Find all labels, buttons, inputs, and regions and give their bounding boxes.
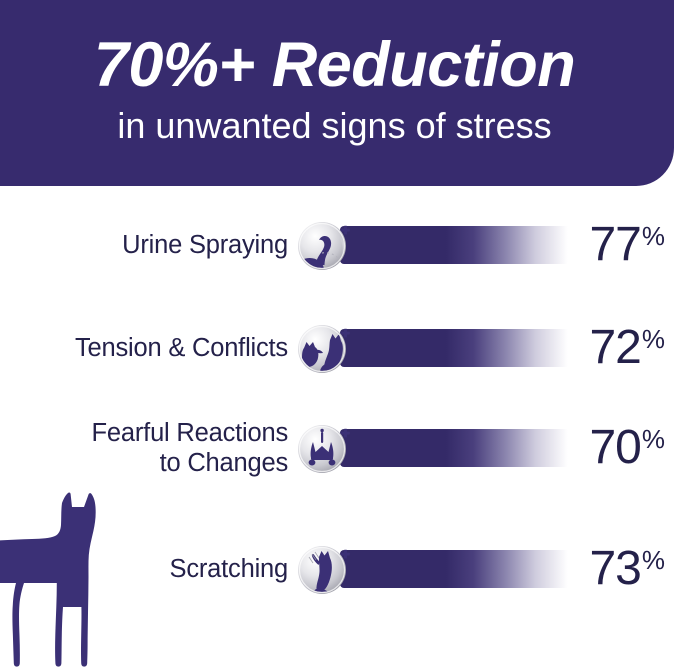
stat-label: Fearful Reactions to Changes [0, 416, 288, 480]
stat-row: Scratching [0, 537, 679, 601]
stat-row: Urine Spraying [0, 213, 679, 277]
stat-label-line: Urine Spraying [122, 230, 288, 260]
percent-sign: % [642, 326, 665, 352]
stat-value-number: 72 [589, 324, 640, 372]
stat-value-number: 77 [589, 221, 640, 269]
stat-value: 72 % [589, 316, 665, 380]
stat-value: 73 % [589, 537, 665, 601]
page-subtitle: in unwanted signs of stress [0, 104, 669, 148]
stat-row: Tension & Conflicts [0, 316, 679, 380]
progress-bar-track [340, 226, 570, 264]
percent-sign: % [642, 547, 665, 573]
cat-urine-spraying-badge-icon [296, 217, 352, 273]
stat-value: 70 % [589, 416, 665, 480]
percent-sign: % [642, 223, 665, 249]
stat-label-line: Fearful Reactions [92, 418, 288, 448]
stat-label-line: to Changes [92, 448, 288, 478]
stat-row: Fearful Reactions to Changes [0, 416, 679, 480]
stat-label-line: Scratching [170, 554, 288, 584]
stat-value-number: 73 [589, 545, 640, 593]
stats-list: Urine Spraying [0, 186, 679, 667]
header-banner: 70%+ Reduction in unwanted signs of stre… [0, 0, 674, 186]
stat-value: 77 % [589, 213, 665, 277]
stat-label: Tension & Conflicts [0, 316, 288, 380]
progress-bar-track [340, 550, 570, 588]
fearful-cat-badge-icon [296, 420, 352, 476]
stat-label: Urine Spraying [0, 213, 288, 277]
stat-value-number: 70 [589, 424, 640, 472]
stat-label: Scratching [0, 537, 288, 601]
percent-sign: % [642, 426, 665, 452]
progress-bar-track [340, 329, 570, 367]
stat-label-line: Tension & Conflicts [75, 333, 288, 363]
two-cats-tension-badge-icon [296, 320, 352, 376]
header-text-block: 70%+ Reduction in unwanted signs of stre… [0, 28, 669, 148]
cat-scratching-badge-icon [296, 541, 352, 597]
progress-bar-track [340, 429, 570, 467]
page-title: 70%+ Reduction [0, 28, 669, 102]
